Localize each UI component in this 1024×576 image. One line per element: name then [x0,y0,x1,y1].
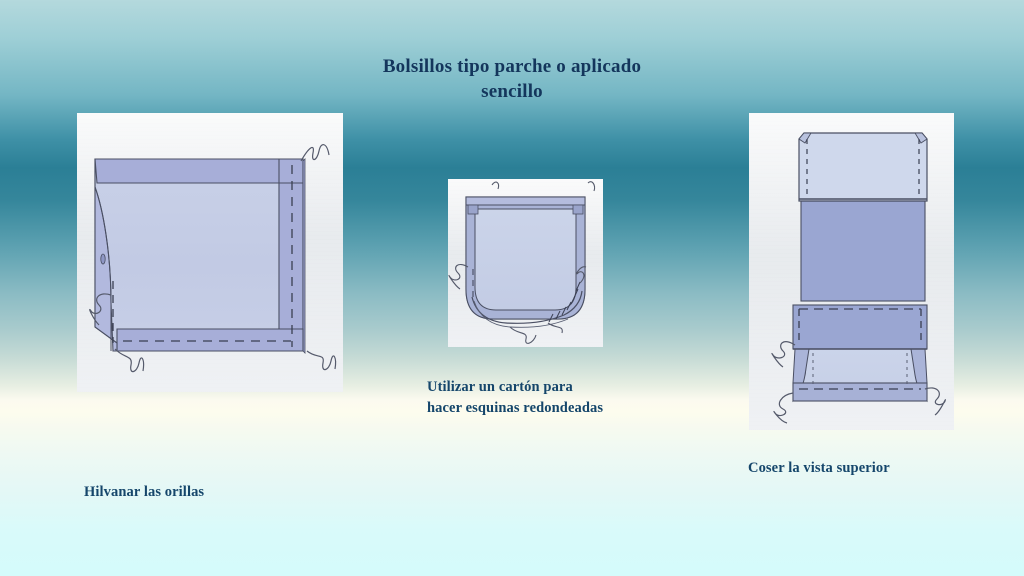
thread-tail-middle-top-right [588,182,595,191]
thread-tail-bottom-left [115,349,144,372]
thread-tail-middle-bottom [510,327,536,343]
figure-image-hilvanar [77,113,343,392]
slide-canvas: Bolsillos tipo parche o aplicado sencill… [0,0,1024,576]
thread-tail-middle-bottom-2 [548,323,562,333]
figure-caption-carton: Utilizar un cartón para hacer esquinas r… [427,377,603,419]
sub-figure-lower [772,305,945,423]
page-title-line-2: sencillo [0,79,1024,104]
thread-tail-bottom-right [307,351,336,370]
thread-tail-middle-top-left [492,182,499,189]
figure-caption-vista-superior: Coser la vista superior [748,458,890,479]
page-title: Bolsillos tipo parche o aplicado sencill… [0,54,1024,104]
thread-tail-middle-left [449,265,468,289]
thread-tail-lower-left [772,342,795,367]
thread-tail-lower-right [925,388,945,415]
sub-figure-upper [799,133,927,301]
illustration-rounded-corner-pocket [448,179,603,347]
figure-image-carton [448,179,603,347]
page-title-line-1: Bolsillos tipo parche o aplicado [0,54,1024,79]
thread-tail-lower-bottom-left [774,393,793,423]
figure-image-vista-superior [749,113,954,430]
figure-caption-hilvanar: Hilvanar las orillas [84,482,204,503]
illustration-top-facing [749,113,954,430]
illustration-basted-pocket [77,113,343,392]
